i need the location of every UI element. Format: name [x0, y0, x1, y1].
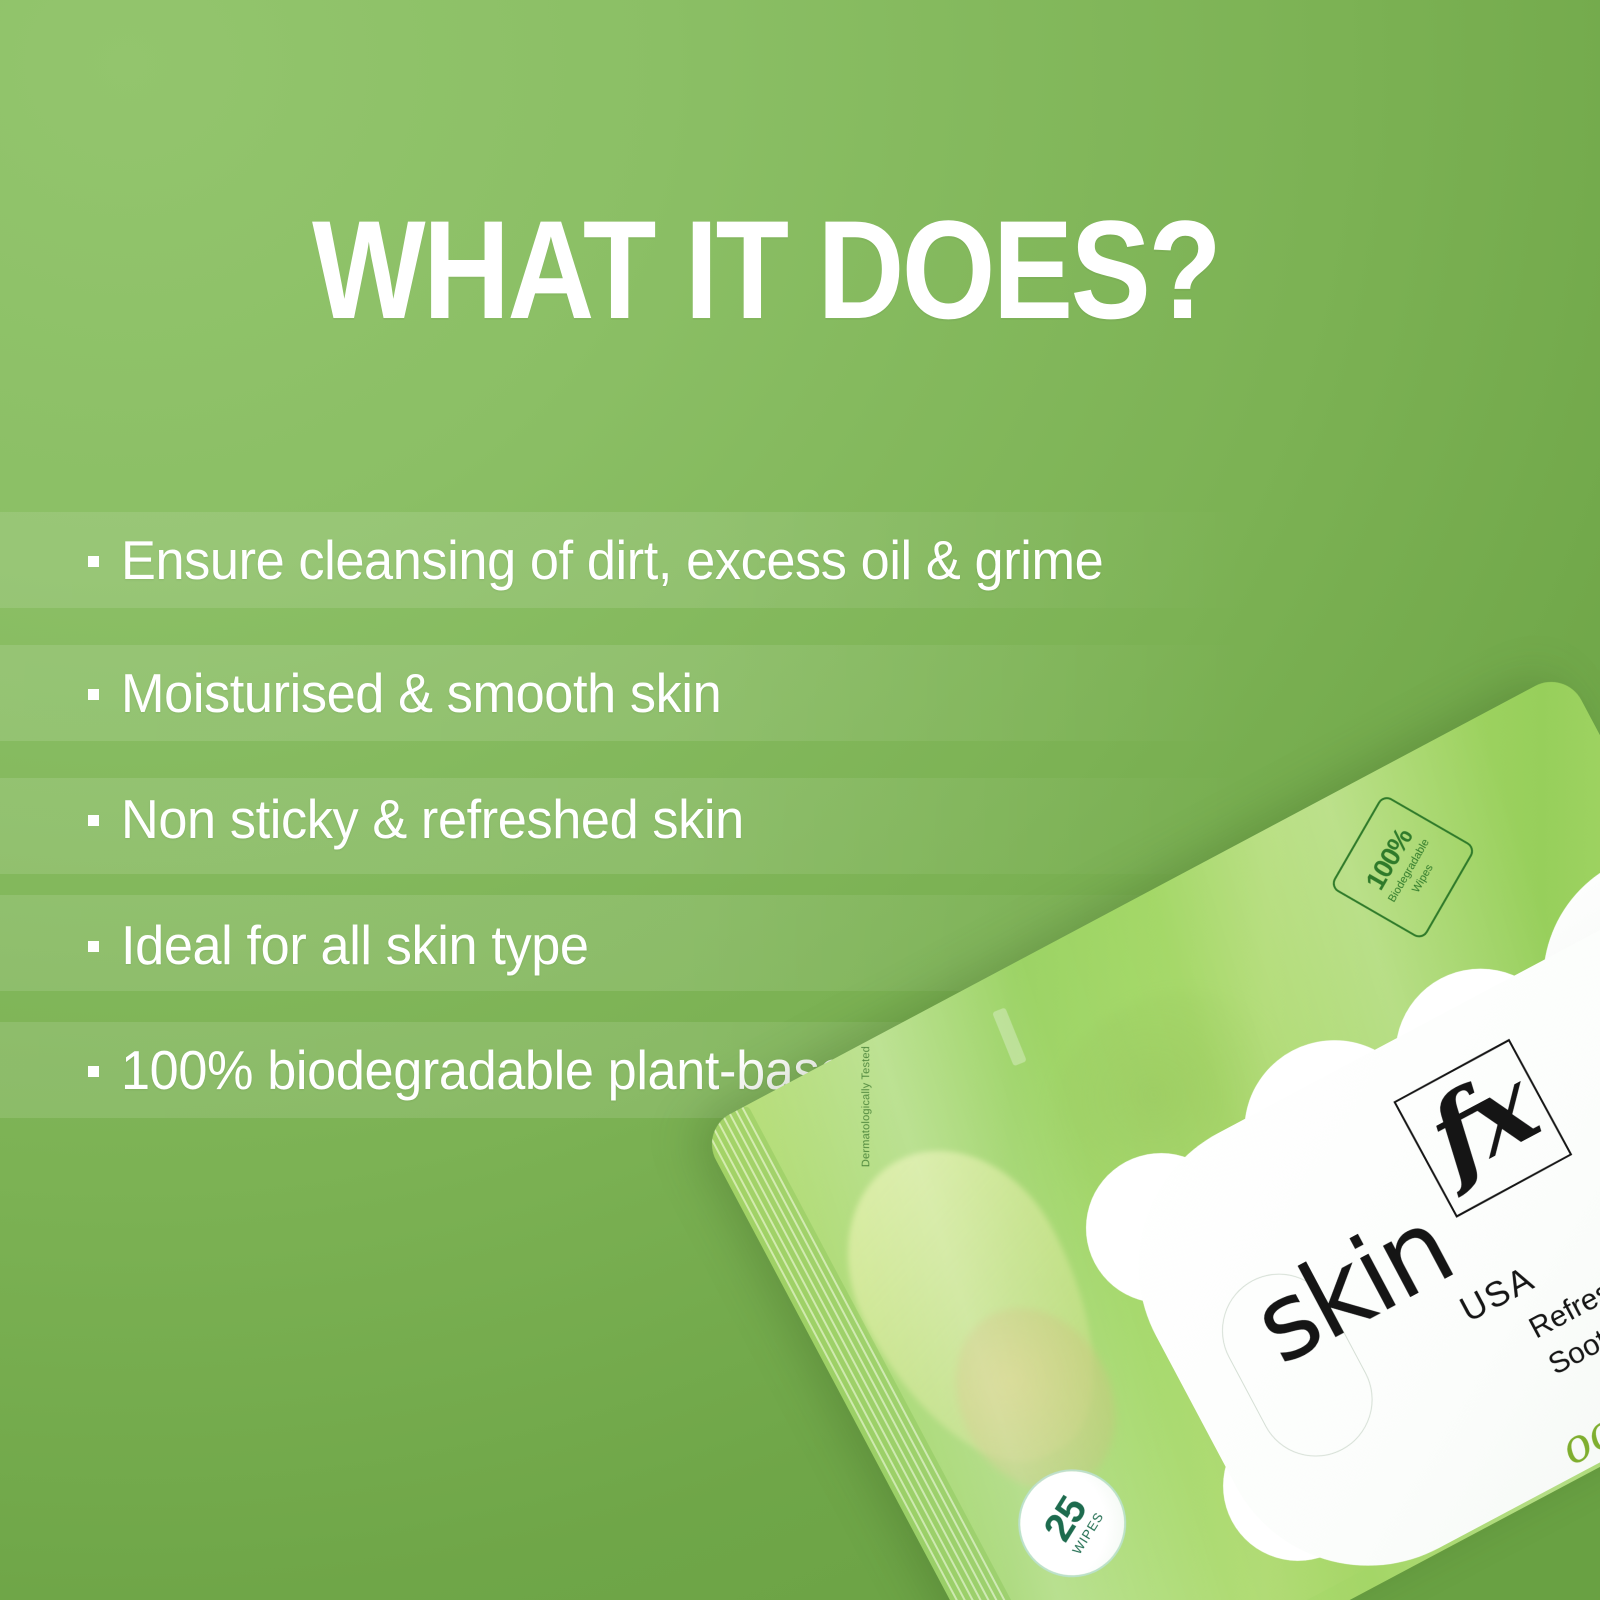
wipes-count-unit: WIPES	[1069, 1509, 1107, 1557]
benefit-item: Non sticky & refreshed skin	[88, 787, 777, 851]
benefit-label: 100% biodegradable plant-based fabric	[121, 1038, 1016, 1102]
product-descriptor: Refreshing & Soothing Wipes	[1522, 1215, 1600, 1385]
wipes-count-number: 25	[1039, 1491, 1093, 1547]
benefit-label: Non sticky & refreshed skin	[121, 787, 744, 851]
benefit-item: Ensure cleansing of dirt, excess oil & g…	[88, 528, 1155, 592]
page-title: WHAT IT DOES?	[312, 200, 1219, 340]
pouch-ghost-blob	[1007, 947, 1345, 1272]
wipes-pouch: Dermatologically Tested 100% Biodegradab…	[700, 670, 1600, 1600]
product-label	[1086, 880, 1600, 1600]
pouch-ghost-avocado-pit	[925, 1280, 1147, 1518]
benefit-item: Ideal for all skin type	[88, 913, 613, 977]
wipes-count-badge: 25 WIPES	[1001, 1452, 1144, 1595]
square-bullet-icon	[88, 556, 99, 567]
biodegradable-badge: 100% Biodegradable Wipes	[1329, 793, 1477, 941]
benefit-item: Moisturised & smooth skin	[88, 661, 753, 725]
product-variant: ocado & h hazel	[1551, 1330, 1600, 1526]
square-bullet-icon	[88, 815, 99, 826]
benefit-label: Ideal for all skin type	[121, 913, 589, 977]
label-edge-wave	[1213, 1008, 1424, 1190]
square-bullet-icon	[88, 689, 99, 700]
open-label: OPEN	[1588, 953, 1600, 1028]
pouch-crimped-edge	[700, 1105, 1086, 1600]
brand-name: skin	[1239, 1193, 1466, 1381]
benefit-label: Ensure cleansing of dirt, excess oil & g…	[121, 528, 1103, 592]
pouch-body: Dermatologically Tested 100% Biodegradab…	[700, 670, 1600, 1600]
biodegradable-percent: 100%	[1361, 824, 1417, 894]
brand-mark-box	[1393, 1039, 1572, 1218]
promo-image-canvas: WHAT IT DOES? Ensure cleansing of dirt, …	[0, 0, 1600, 1600]
descriptor-line-1: Refreshing &	[1522, 1215, 1600, 1349]
pouch-bottom-strip	[1294, 1250, 1600, 1600]
benefit-label: Moisturised & smooth skin	[121, 661, 721, 725]
pouch-sheen	[700, 670, 1600, 1600]
biodegradable-line2: Wipes	[1410, 862, 1436, 895]
descriptor-line-2: Soothing Wipes	[1541, 1251, 1600, 1385]
brand-mark: fx	[1413, 1053, 1549, 1191]
benefit-item: 100% biodegradable plant-based fabric	[88, 1038, 1063, 1102]
label-edge-wave	[1060, 1127, 1263, 1330]
brand-origin: USA	[1454, 1259, 1542, 1331]
label-edge-wave	[1197, 1384, 1400, 1587]
label-edge-wave	[1366, 939, 1563, 1107]
variant-line-1: ocado &	[1552, 1337, 1600, 1476]
square-bullet-icon	[88, 1066, 99, 1077]
pouch-ghost-avocado	[805, 1112, 1145, 1502]
square-bullet-icon	[88, 941, 99, 952]
resealable-flap	[1519, 826, 1600, 1088]
label-emboss-outline	[1202, 1254, 1393, 1477]
biodegradable-line1: Biodegradable	[1386, 837, 1432, 905]
